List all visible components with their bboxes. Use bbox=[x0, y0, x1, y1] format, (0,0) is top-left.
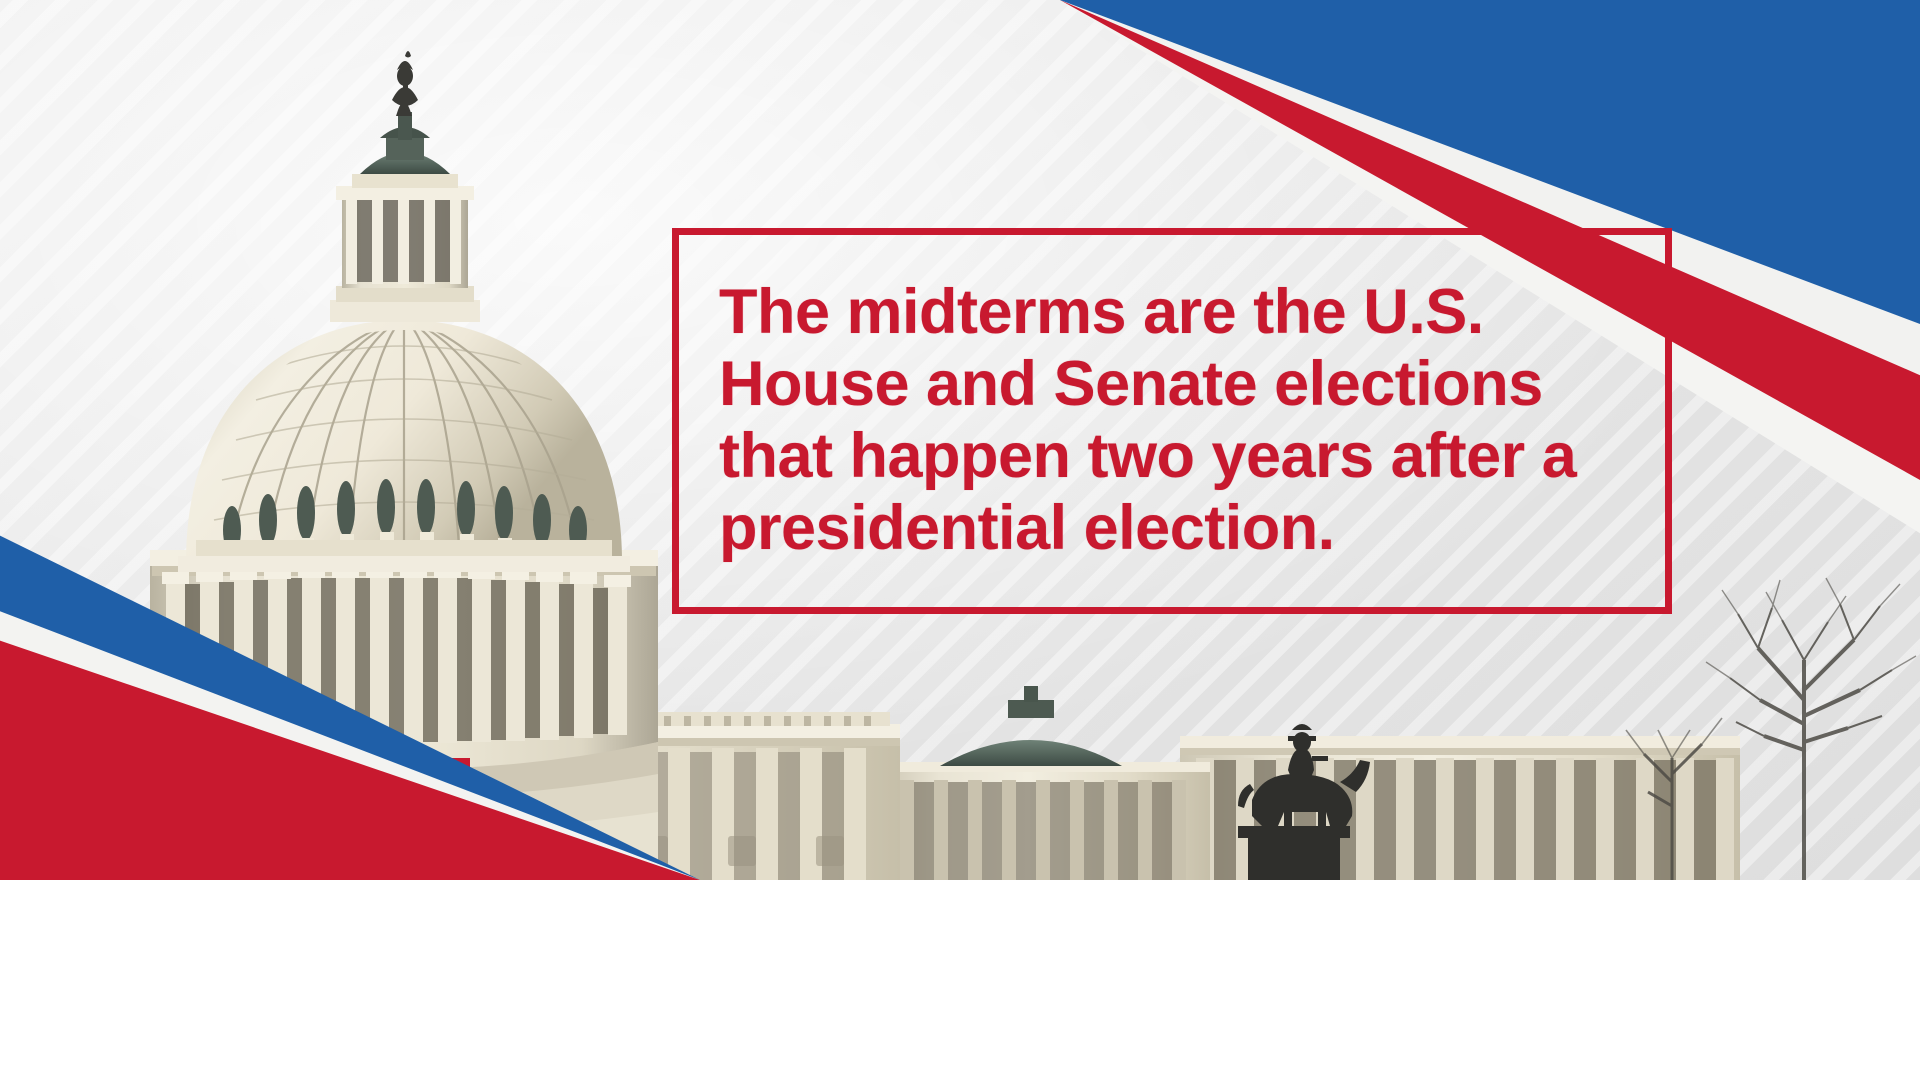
letterbox-bottom bbox=[0, 880, 1920, 1080]
headline-callout-box: The midterms are the U.S. House and Sena… bbox=[672, 228, 1672, 614]
graphic-canvas: The midterms are the U.S. House and Sena… bbox=[0, 0, 1920, 880]
headline-text: The midterms are the U.S. House and Sena… bbox=[679, 277, 1665, 564]
